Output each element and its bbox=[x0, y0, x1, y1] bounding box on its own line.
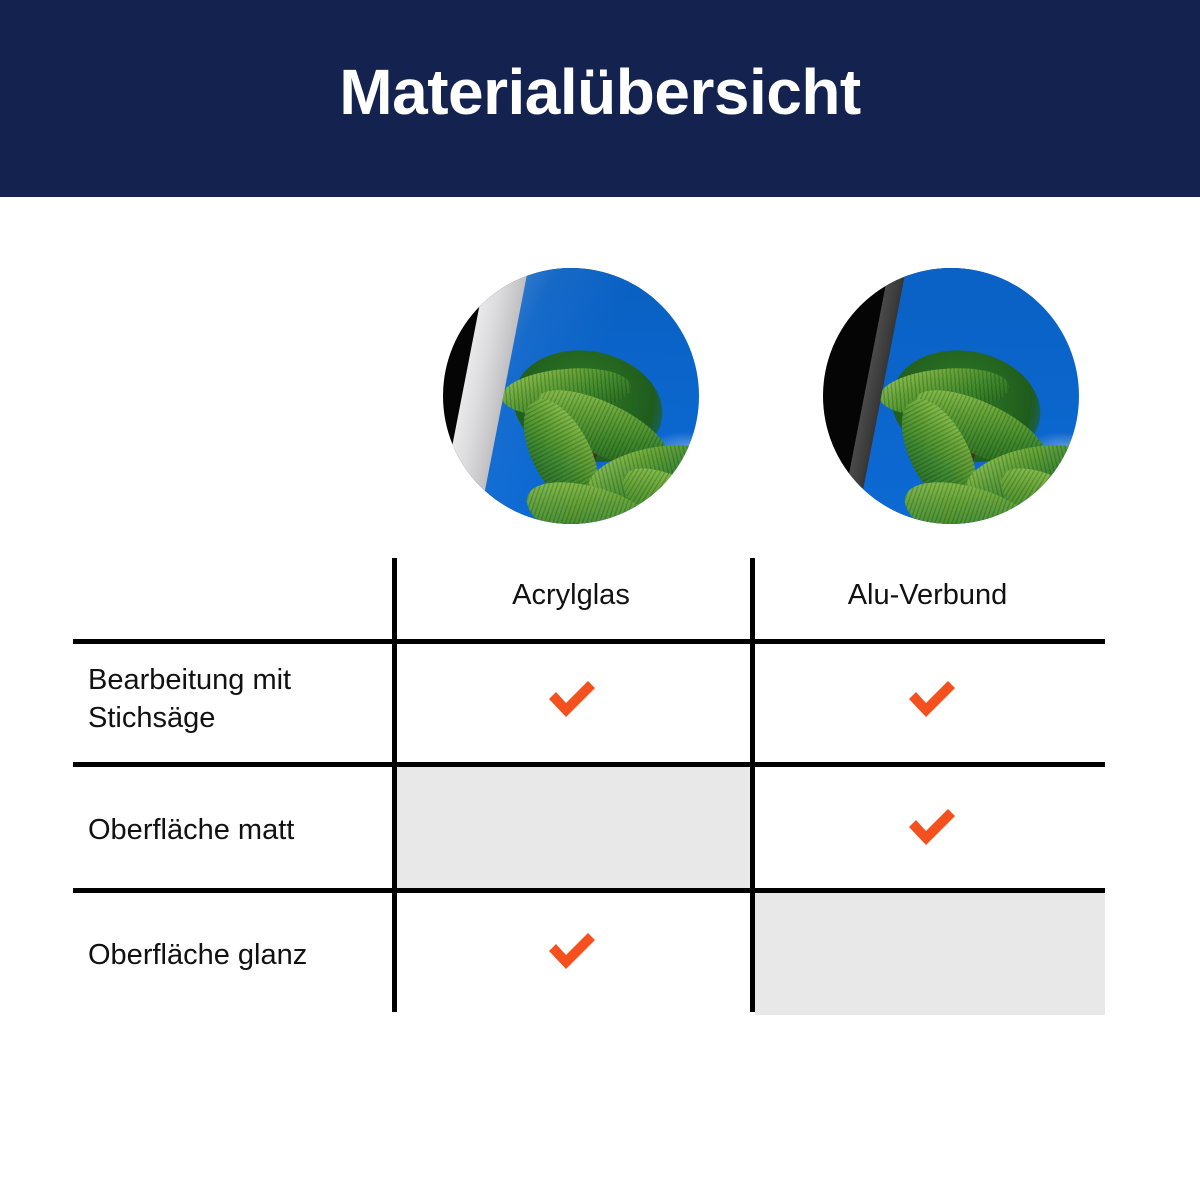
row-label-line-2: Stichsäge bbox=[88, 702, 215, 734]
check-mark-icon bbox=[903, 672, 959, 728]
palm-frond bbox=[657, 268, 699, 334]
alu-verbund-panel-illustration bbox=[823, 268, 1079, 524]
check-mark-icon bbox=[903, 800, 959, 856]
product-preview-acrylglas bbox=[443, 268, 699, 524]
material-overview-page: Materialübersicht bbox=[0, 0, 1200, 1200]
table-rule-row2-bottom bbox=[73, 888, 1105, 893]
table-divider-column-2 bbox=[750, 558, 755, 1012]
check-mark-icon bbox=[543, 672, 599, 728]
page-title: Materialübersicht bbox=[0, 0, 1200, 197]
acrylglas-panel-illustration bbox=[443, 268, 699, 524]
check-mark-icon bbox=[543, 924, 599, 980]
table-column-header-alu-verbund: Alu-Verbund bbox=[750, 578, 1105, 612]
table-cell-unavailable-alu-verbund-oberflaeche-glanz bbox=[755, 893, 1105, 1015]
table-cell-unavailable-acrylglas-oberflaeche-matt bbox=[395, 767, 750, 890]
palm-frond bbox=[1035, 268, 1079, 334]
table-column-header-acrylglas: Acrylglas bbox=[392, 578, 750, 612]
product-preview-alu-verbund bbox=[823, 268, 1079, 524]
table-divider-column-1 bbox=[392, 558, 397, 1012]
table-rule-row1-bottom bbox=[73, 762, 1105, 767]
product-preview-row bbox=[0, 268, 1200, 526]
table-row-label-oberflaeche-matt: Oberfläche matt bbox=[88, 811, 388, 849]
table-row-label-bearbeitung-mit-stichsaege: Bearbeitung mit Stichsäge bbox=[88, 661, 388, 737]
material-comparison-table: Acrylglas Alu-Verbund Bearbeitung mit St… bbox=[73, 556, 1105, 1014]
row-label-line-1: Bearbeitung mit bbox=[88, 664, 291, 696]
table-rule-header-bottom bbox=[73, 639, 1105, 644]
table-row-label-oberflaeche-glanz: Oberfläche glanz bbox=[88, 936, 388, 974]
